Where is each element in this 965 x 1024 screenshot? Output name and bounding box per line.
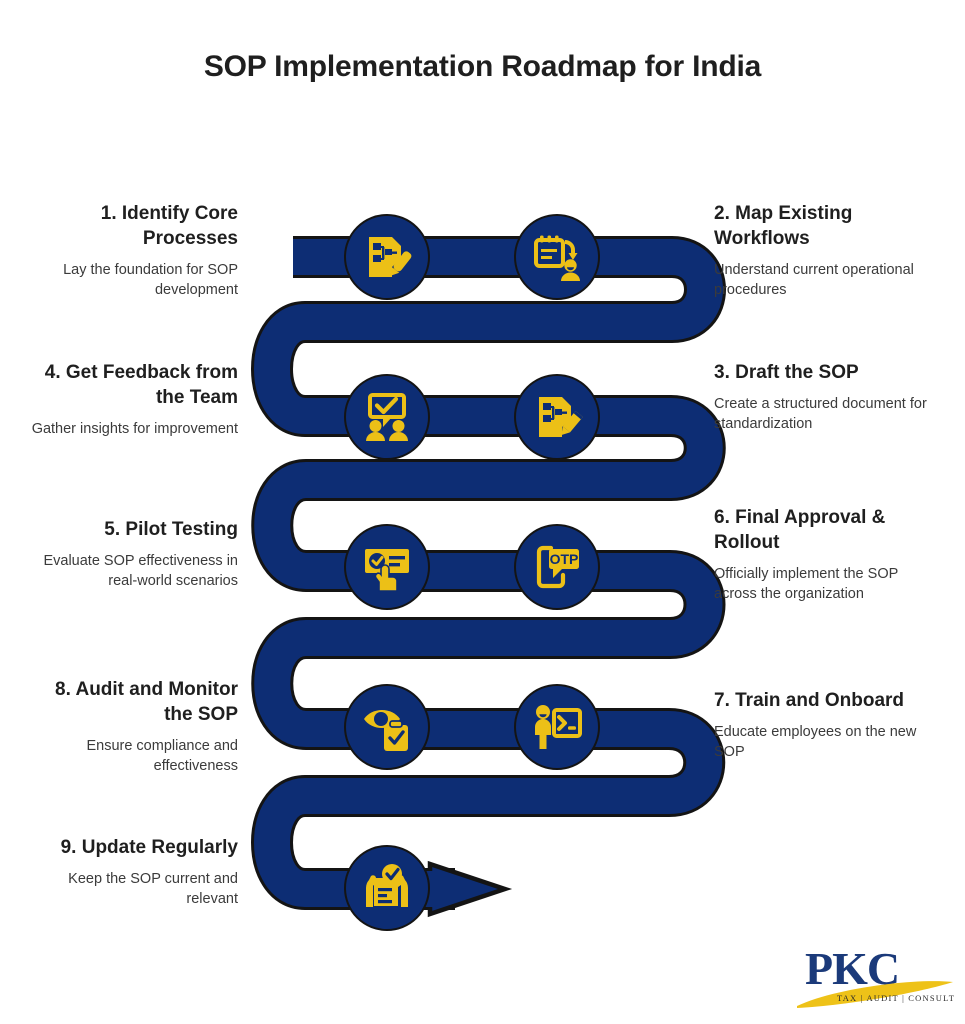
step-node-8[interactable]	[344, 684, 430, 770]
step-text-7: 7. Train and Onboard Educate employees o…	[714, 688, 942, 762]
step-node-4[interactable]	[344, 374, 430, 460]
step-title: 2. Map Existing Workflows	[714, 201, 942, 251]
svg-text:OTP: OTP	[550, 551, 579, 567]
step-description: Ensure compliance and effectiveness	[22, 736, 238, 776]
step-description: Understand current operational procedure…	[714, 260, 942, 300]
step-text-8: 8. Audit and Monitor the SOP Ensure comp…	[22, 677, 238, 776]
step-title: 1. Identify Core Processes	[22, 201, 238, 251]
step-description: Gather insights for improvement	[22, 419, 238, 439]
step-title: 3. Draft the SOP	[714, 360, 942, 385]
step-description: Educate employees on the new SOP	[714, 722, 942, 762]
step-text-4: 4. Get Feedback from the Team Gather ins…	[22, 360, 238, 439]
step-text-6: 6. Final Approval & Rollout Officially i…	[714, 505, 942, 604]
step-title: 6. Final Approval & Rollout	[714, 505, 942, 555]
step-description: Keep the SOP current and relevant	[22, 869, 238, 909]
eye-audit-clipboard-icon	[361, 701, 413, 753]
clipboard-process-person-icon	[531, 231, 583, 283]
step-node-7[interactable]	[514, 684, 600, 770]
step-description: Officially implement the SOP across the …	[714, 564, 942, 604]
checklist-card-hand-icon	[361, 541, 413, 593]
step-title: 8. Audit and Monitor the SOP	[22, 677, 238, 727]
trainer-presentation-board-icon	[531, 701, 583, 753]
step-title: 9. Update Regularly	[22, 835, 238, 860]
step-text-5: 5. Pilot Testing Evaluate SOP effectiven…	[22, 517, 238, 591]
step-text-1: 1. Identify Core Processes Lay the found…	[22, 201, 238, 300]
document-flowchart-pencil-icon	[361, 231, 413, 283]
step-title: 4. Get Feedback from the Team	[22, 360, 238, 410]
step-text-2: 2. Map Existing Workflows Understand cur…	[714, 201, 942, 300]
step-text-3: 3. Draft the SOP Create a structured doc…	[714, 360, 942, 434]
end-arrow-icon	[420, 864, 505, 914]
step-node-2[interactable]	[514, 214, 600, 300]
step-node-3[interactable]	[514, 374, 600, 460]
step-description: Evaluate SOP effectiveness in real-world…	[22, 551, 238, 591]
step-node-5[interactable]	[344, 524, 430, 610]
mobile-otp-approval-icon: OTP	[531, 541, 583, 593]
step-description: Create a structured document for standar…	[714, 394, 942, 434]
pkc-logo: PKC TAX | AUDIT | CONSULTING	[795, 938, 955, 1014]
step-node-1[interactable]	[344, 214, 430, 300]
logo-tagline: TAX | AUDIT | CONSULTING	[837, 993, 955, 1003]
feedback-chat-people-icon	[361, 391, 413, 443]
step-node-6[interactable]: OTP	[514, 524, 600, 610]
step-text-9: 9. Update Regularly Keep the SOP current…	[22, 835, 238, 909]
step-title: 5. Pilot Testing	[22, 517, 238, 542]
step-description: Lay the foundation for SOP development	[22, 260, 238, 300]
step-node-9[interactable]	[344, 845, 430, 931]
document-flowchart-pencil-icon	[531, 391, 583, 443]
hands-document-check-icon	[361, 862, 413, 914]
step-title: 7. Train and Onboard	[714, 688, 942, 713]
